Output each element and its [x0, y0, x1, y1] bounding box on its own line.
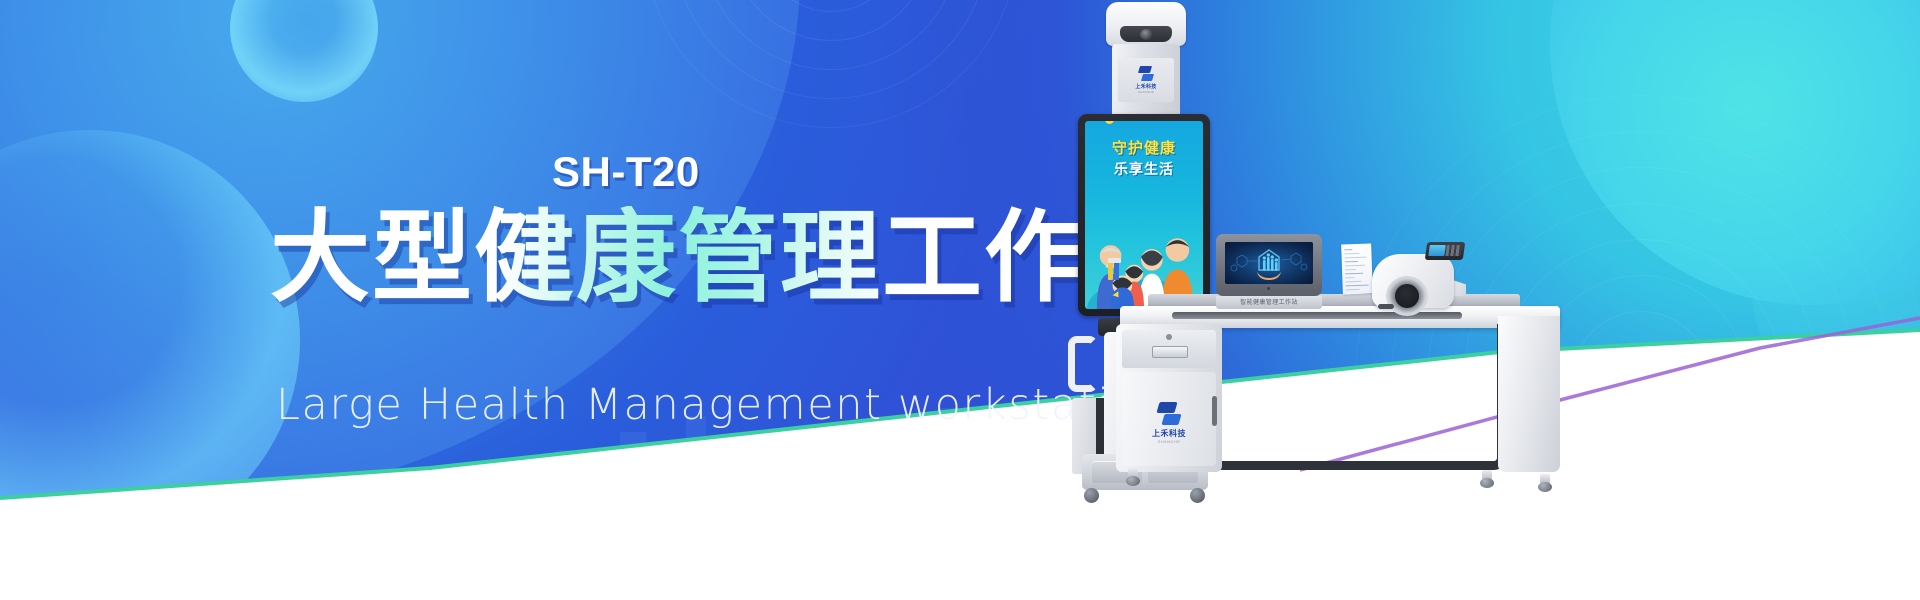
report-text-line	[1345, 257, 1367, 259]
model-code: SH-T20	[552, 148, 700, 196]
desk-caster-left	[1126, 468, 1140, 486]
kiosk-brand-en: SHANGHE	[1138, 90, 1154, 94]
desk-leg-right	[1498, 316, 1560, 472]
report-text-line	[1345, 265, 1365, 267]
brand-logo-icon	[1157, 402, 1181, 426]
desk-paper-clip	[1108, 258, 1122, 282]
report-text-line	[1345, 269, 1356, 271]
cabinet-brand-en: SHANGHE	[1158, 439, 1181, 444]
report-text-line	[1345, 273, 1363, 275]
product-hero-banner: SH-T20 大型健康管理工作站 Large Health Management…	[0, 0, 1920, 600]
report-text-line	[1344, 253, 1359, 255]
ad-headline-line1: 守护健康	[1085, 137, 1203, 158]
bp-arm-cuff[interactable]	[1386, 276, 1428, 316]
bp-base-foot	[1378, 304, 1394, 309]
kiosk-handle-left[interactable]	[1068, 336, 1098, 392]
bp-housing	[1372, 254, 1454, 308]
kiosk-height-sensor-hood	[1106, 2, 1186, 46]
kiosk-brand-cn: 上禾科技	[1135, 83, 1156, 90]
cabinet-door[interactable]: 上禾科技 SHANGHE	[1122, 372, 1216, 466]
report-text-line	[1345, 261, 1358, 263]
cabinet-brand: 上禾科技 SHANGHE	[1122, 402, 1216, 444]
desk-caster-right	[1538, 474, 1552, 492]
workstation-monitor[interactable]: 智能健康管理工作站	[1216, 234, 1322, 312]
cabinet-drawer[interactable]	[1122, 330, 1216, 368]
brand-logo-icon	[1138, 66, 1154, 82]
monitor-screen[interactable]	[1225, 242, 1313, 284]
report-text-line	[1345, 281, 1361, 283]
kiosk-wheel-left	[1084, 488, 1099, 503]
monitor-housing	[1216, 234, 1322, 296]
sun-icon	[1105, 121, 1114, 124]
report-text-line	[1345, 277, 1354, 279]
cabinet-handle[interactable]	[1212, 396, 1217, 426]
desk-cabinet[interactable]: 上禾科技 SHANGHE	[1116, 324, 1222, 472]
report-text-line	[1346, 289, 1360, 291]
health-network-graphic	[1225, 242, 1313, 284]
product-photo: 上禾科技 SHANGHE 守护健康 乐享生活	[1020, 0, 1920, 600]
cabinet-brand-cn: 上禾科技	[1152, 428, 1186, 439]
report-text-line	[1346, 285, 1369, 287]
blood-pressure-monitor[interactable]	[1366, 238, 1466, 314]
ad-headline-line2: 乐享生活	[1085, 159, 1203, 179]
report-text-line	[1344, 249, 1352, 251]
health-report-paper	[1341, 243, 1373, 294]
desk-caster-mid	[1480, 470, 1494, 488]
headline-block: SH-T20 大型健康管理工作站 Large Health Management…	[0, 0, 1050, 600]
workstation-desk: 上禾科技 SHANGHE	[1120, 272, 1600, 492]
bp-control-panel[interactable]	[1425, 242, 1466, 260]
monitor-indicator-icon	[1267, 287, 1270, 290]
monitor-label: 智能健康管理工作站	[1216, 296, 1322, 309]
kiosk-brand-plate: 上禾科技 SHANGHE	[1118, 58, 1174, 102]
